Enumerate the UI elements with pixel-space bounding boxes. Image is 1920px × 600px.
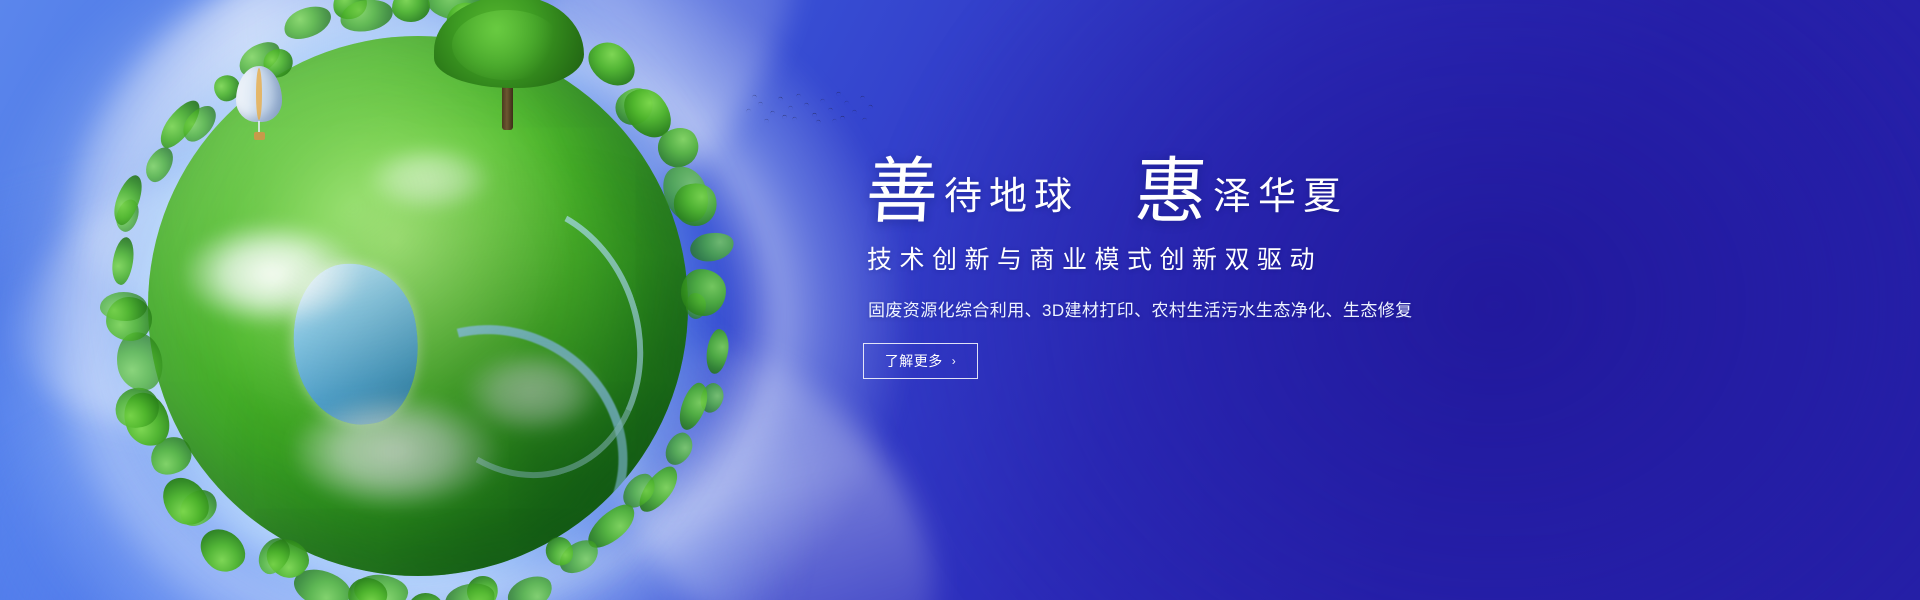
headline-phrase-1: 善 待地球 <box>866 161 1079 224</box>
headline-lead-char: 惠 <box>1133 161 1208 224</box>
headline-lead-char: 善 <box>864 161 939 224</box>
tree-icon <box>434 0 584 116</box>
balloon-stripe <box>256 68 262 120</box>
tiny-planet-illustration <box>148 36 688 576</box>
bird-icon <box>844 100 850 105</box>
vegetation-blob <box>153 468 217 533</box>
bird-icon <box>840 116 845 120</box>
headline-phrase-2: 惠 泽华夏 <box>1135 161 1348 224</box>
headline-rest-chars: 泽华夏 <box>1213 178 1348 224</box>
page-title: 善 待地球 惠 泽华夏 <box>866 132 1502 224</box>
bird-icon <box>782 115 787 119</box>
hero-description: 固废资源化综合利用、3D建材打印、农村生活污水生态净化、生态修复 <box>868 296 1502 321</box>
tree-canopy-highlight <box>452 10 562 80</box>
hero-banner: 善 待地球 惠 泽华夏 技术创新与商业模式创新双驱动 固废资源化综合利用、3D建… <box>0 0 1920 600</box>
bird-icon <box>764 119 769 123</box>
learn-more-button[interactable]: 了解更多 › <box>863 343 978 379</box>
vegetation-blob <box>154 95 207 154</box>
vegetation-blob <box>173 483 224 534</box>
vegetation-blob <box>192 521 253 581</box>
learn-more-label: 了解更多 <box>885 351 943 371</box>
bird-icon <box>792 116 797 120</box>
bird-icon <box>746 108 752 113</box>
bird-icon <box>752 94 757 98</box>
bird-flock-icon <box>743 88 873 132</box>
vegetation-blob <box>633 461 685 518</box>
bird-icon <box>868 104 874 109</box>
bird-icon <box>836 92 841 96</box>
bird-icon <box>758 102 763 106</box>
bird-icon <box>770 110 775 114</box>
bird-icon <box>812 113 817 117</box>
bird-icon <box>860 95 865 99</box>
hero-copy: 善 待地球 惠 泽华夏 技术创新与商业模式创新双驱动 固废资源化综合利用、3D建… <box>862 132 1502 379</box>
bird-icon <box>778 96 784 101</box>
chevron-right-icon: › <box>952 354 957 368</box>
bird-icon <box>852 110 857 114</box>
bird-icon <box>788 106 793 110</box>
planet-sphere <box>148 36 688 576</box>
vegetation-blob <box>580 34 643 95</box>
balloon-basket <box>254 132 265 140</box>
headline-rest-chars: 待地球 <box>944 178 1079 224</box>
hero-subtitle: 技术创新与商业模式创新双驱动 <box>867 240 1502 276</box>
bird-icon <box>796 93 801 97</box>
bird-icon <box>828 107 833 111</box>
hot-air-balloon-icon <box>236 66 282 144</box>
bird-icon <box>820 98 826 103</box>
bird-icon <box>816 119 822 124</box>
bird-icon <box>862 117 868 122</box>
planet-shading <box>148 36 688 576</box>
bird-icon <box>804 102 810 106</box>
bird-icon <box>832 118 838 123</box>
